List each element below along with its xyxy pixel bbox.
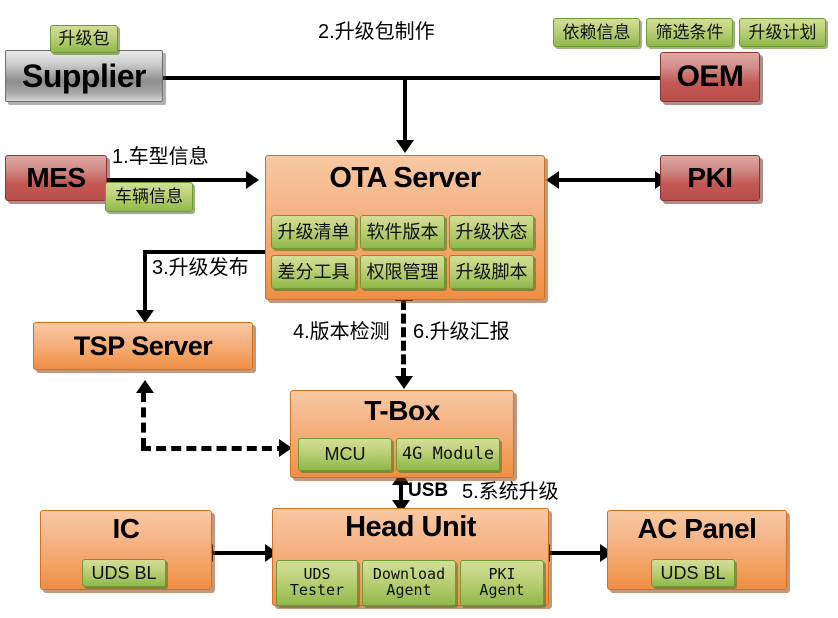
node-tsp-server-label: TSP Server [74, 333, 213, 360]
connector-trunk-to-ota [403, 76, 407, 142]
node-supplier[interactable]: Supplier [5, 50, 163, 102]
node-head-unit-label: Head Unit [345, 513, 476, 542]
node-oem[interactable]: OEM [660, 52, 760, 102]
node-tsp-server[interactable]: TSP Server [33, 322, 253, 370]
flow-label-3: 3.升级发布 [152, 258, 249, 278]
node-tbox-label: T-Box [364, 397, 439, 425]
uds-tester-line2: Tester [290, 583, 344, 599]
node-oem-label: OEM [677, 62, 744, 92]
node-mes-label: MES [26, 164, 85, 192]
pki-agent-line2: Agent [479, 583, 524, 599]
head-unit-module-uds-tester[interactable]: UDS Tester [276, 560, 358, 606]
flow-label-5: 5.系统升级 [462, 482, 559, 502]
arrowhead-mes-to-ota [246, 171, 259, 189]
flow-label-4: 4.版本检测 [293, 322, 390, 342]
ic-module-uds-bl[interactable]: UDS BL [82, 559, 166, 587]
connector-tsp-tbox-dashed-v [141, 392, 146, 448]
flow-label-1: 1.车型信息 [112, 147, 209, 167]
ota-module-software-version[interactable]: 软件版本 [360, 215, 445, 249]
connector-ota-to-tsp-v [143, 250, 147, 312]
connector-headunit-acpanel [549, 551, 607, 555]
diagram-canvas: 1.车型信息 2.升级包制作 3.升级发布 4.版本检测 6.升级汇报 USB … [0, 0, 838, 618]
ota-module-upgrade-status[interactable]: 升级状态 [449, 215, 534, 249]
tag-oem-dependency: 依赖信息 [553, 18, 640, 47]
arrowhead-dashed-to-tsp [136, 380, 154, 393]
ota-module-permission-management[interactable]: 权限管理 [360, 255, 445, 289]
connector-tsp-tbox-dashed-h [141, 446, 287, 451]
ota-module-upgrade-script[interactable]: 升级脚本 [449, 255, 534, 289]
node-mes[interactable]: MES [5, 155, 107, 201]
arrowhead-trunk-to-ota [396, 140, 414, 153]
flow-label-6: 6.升级汇报 [413, 322, 510, 342]
head-unit-module-download-agent[interactable]: Download Agent [362, 560, 456, 606]
head-unit-module-pki-agent[interactable]: PKI Agent [460, 560, 544, 606]
node-ic-label: IC [113, 515, 140, 543]
flow-label-2: 2.升级包制作 [318, 22, 435, 42]
connector-ota-pki [558, 178, 658, 182]
arrowhead-ota-pki-left [546, 171, 559, 189]
arrowhead-ota-to-tbox [395, 376, 413, 389]
connector-ota-to-tsp-h [143, 250, 267, 254]
tag-oem-plan: 升级计划 [739, 18, 826, 47]
tbox-module-mcu[interactable]: MCU [298, 438, 392, 471]
tag-supplier-package: 升级包 [50, 25, 118, 53]
connector-ic-headunit [212, 551, 272, 555]
tbox-module-row: MCU 4G Module [298, 438, 500, 471]
connector-supplier-oem [163, 76, 663, 80]
flow-label-usb: USB [408, 481, 448, 500]
ac-panel-module-uds-bl[interactable]: UDS BL [651, 559, 735, 587]
connector-ota-tbox-dashed [401, 300, 406, 378]
ota-module-row-1: 升级清单 软件版本 升级状态 [271, 215, 534, 249]
ota-module-upgrade-list[interactable]: 升级清单 [271, 215, 356, 249]
node-ac-panel-label: AC Panel [638, 515, 757, 543]
node-supplier-label: Supplier [22, 60, 146, 92]
tag-mes-vehicle-info: 车辆信息 [105, 182, 193, 212]
ota-module-diff-tool[interactable]: 差分工具 [271, 255, 356, 289]
node-pki[interactable]: PKI [660, 155, 760, 201]
head-unit-module-row: UDS Tester Download Agent PKI Agent [276, 560, 544, 606]
tag-oem-filter: 筛选条件 [646, 18, 733, 47]
node-ota-server-label: OTA Server [329, 164, 480, 193]
download-agent-line2: Agent [386, 583, 431, 599]
ota-module-row-2: 差分工具 权限管理 升级脚本 [271, 255, 534, 289]
tbox-module-4g[interactable]: 4G Module [396, 438, 500, 471]
node-pki-label: PKI [687, 164, 732, 192]
